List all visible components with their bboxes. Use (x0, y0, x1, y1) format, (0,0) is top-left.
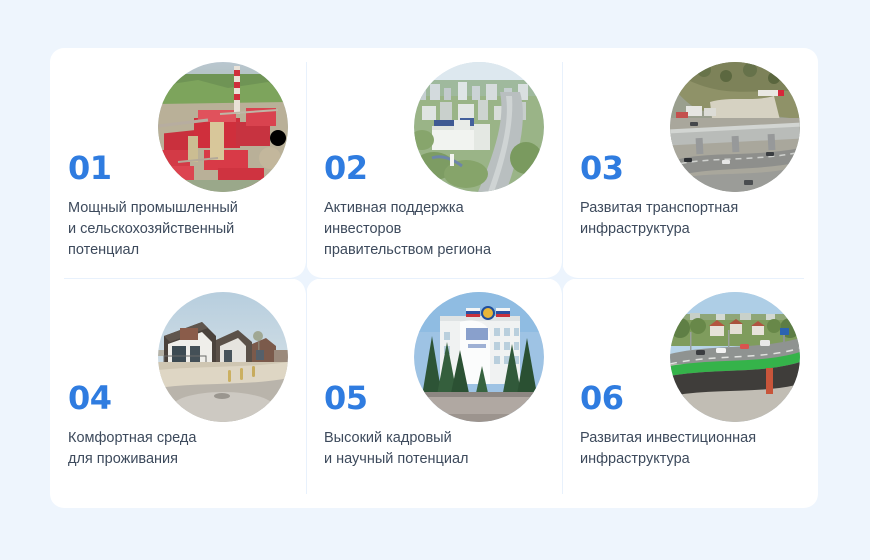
card-number: 01 (68, 152, 112, 184)
advantage-card-04[interactable]: 04 Комфортная среда для проживания (50, 278, 306, 508)
card-number: 06 (580, 382, 624, 414)
road-overpass-photo (670, 292, 800, 422)
advantage-card-06[interactable]: 06 Развитая инвестиционная инфраструктур… (562, 278, 818, 508)
card-caption: Развитая инвестиционная инфраструктура (580, 428, 798, 470)
card-caption: Активная поддержка инвесторов правительс… (324, 198, 542, 261)
university-building-photo (414, 292, 544, 422)
card-number: 03 (580, 152, 624, 184)
card-number: 05 (324, 382, 368, 414)
card-number: 02 (324, 152, 368, 184)
highway-interchange-photo (670, 62, 800, 192)
card-caption: Развитая транспортная инфраструктура (580, 198, 798, 240)
advantage-card-01[interactable]: 01 Мощный промышленный и сельскохозяйств… (50, 48, 306, 278)
card-caption: Комфортная среда для проживания (68, 428, 286, 470)
advantage-card-05[interactable]: 05 Высокий кадровый и научный потенциал (306, 278, 562, 508)
card-number: 04 (68, 382, 112, 414)
industrial-plant-aerial-photo (158, 62, 288, 192)
advantages-card-grid: 01 Мощный промышленный и сельскохозяйств… (50, 48, 818, 508)
city-aerial-photo (414, 62, 544, 192)
residential-houses-photo (158, 292, 288, 422)
advantage-card-03[interactable]: 03 Развитая транспортная инфраструктура (562, 48, 818, 278)
card-caption: Высокий кадровый и научный потенциал (324, 428, 542, 470)
card-caption: Мощный промышленный и сельскохозяйственн… (68, 198, 286, 261)
advantage-card-02[interactable]: 02 Активная поддержка инвесторов правите… (306, 48, 562, 278)
